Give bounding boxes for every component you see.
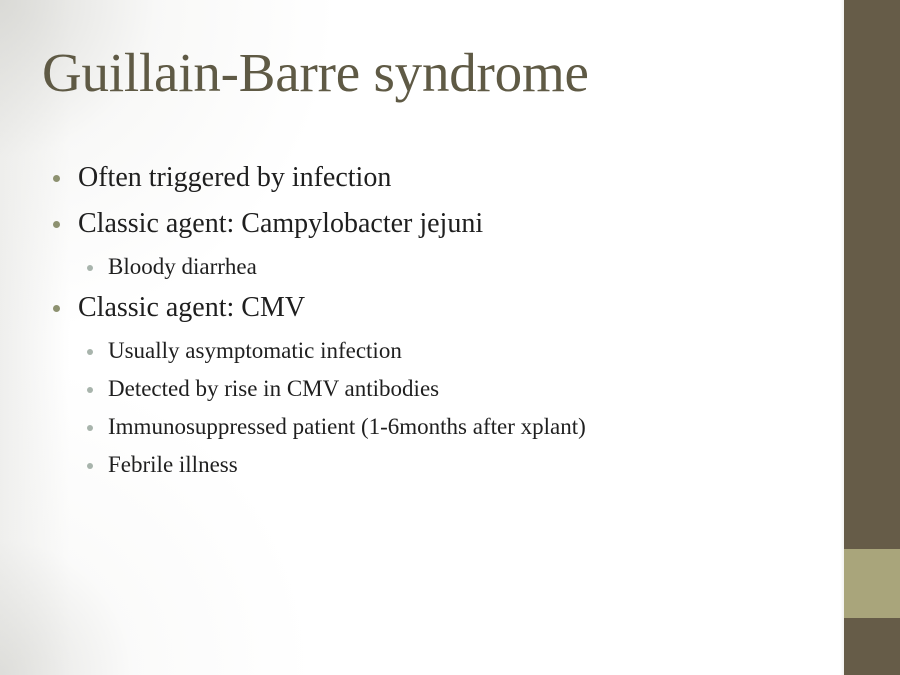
sub-bullet-item: Detected by rise in CMV antibodies <box>44 371 804 409</box>
bullet-dot-icon <box>53 175 60 182</box>
bullet-item: Classic agent: Campylobacter jejuni <box>44 203 804 249</box>
bullet-item: Classic agent: CMV <box>44 287 804 333</box>
sidebar-bar-top <box>844 0 900 549</box>
sub-bullet-text: Usually asymptomatic infection <box>108 333 804 369</box>
bullet-dot-icon <box>87 265 93 271</box>
decorative-sidebar <box>844 0 900 675</box>
sub-bullet-text: Febrile illness <box>108 447 804 483</box>
sub-bullet-text: Immunosuppressed patient (1-6months afte… <box>108 409 804 445</box>
slide-body-list: Often triggered by infection Classic age… <box>44 157 804 485</box>
sub-bullet-item: Febrile illness <box>44 447 804 485</box>
slide-canvas: Guillain-Barre syndrome Often triggered … <box>0 0 900 675</box>
sidebar-bar-accent <box>844 549 900 618</box>
bullet-text: Often triggered by infection <box>78 157 804 199</box>
bullet-dot-icon <box>53 305 60 312</box>
bullet-dot-icon <box>87 425 93 431</box>
sub-bullet-item: Immunosuppressed patient (1-6months afte… <box>44 409 804 447</box>
sub-bullet-item: Usually asymptomatic infection <box>44 333 804 371</box>
bullet-item: Often triggered by infection <box>44 157 804 203</box>
bullet-text: Classic agent: Campylobacter jejuni <box>78 203 804 245</box>
slide-title: Guillain-Barre syndrome <box>42 42 589 104</box>
bullet-text: Classic agent: CMV <box>78 287 804 329</box>
sidebar-bar-bottom <box>844 618 900 675</box>
bullet-dot-icon <box>87 463 93 469</box>
sub-bullet-item: Bloody diarrhea <box>44 249 804 287</box>
bullet-dot-icon <box>53 221 60 228</box>
sub-bullet-text: Detected by rise in CMV antibodies <box>108 371 804 407</box>
bullet-dot-icon <box>87 387 93 393</box>
bullet-dot-icon <box>87 349 93 355</box>
sub-bullet-text: Bloody diarrhea <box>108 249 804 285</box>
